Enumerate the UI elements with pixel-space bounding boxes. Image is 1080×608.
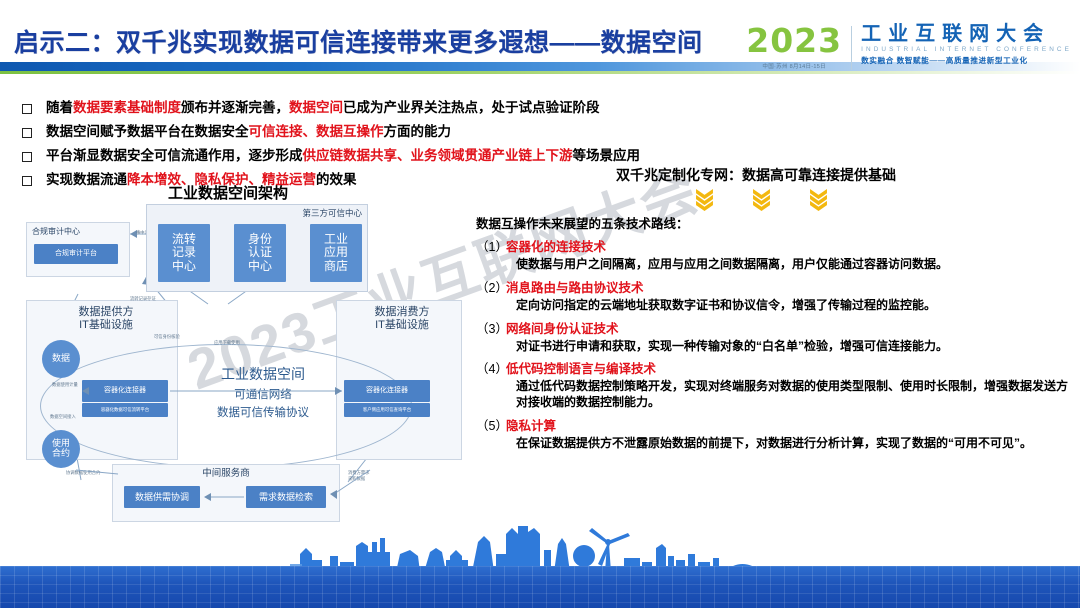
logo-year: 2023 [746, 24, 842, 57]
tech-route-number: （3） [476, 318, 506, 337]
tech-route-item: （1）容器化的连接技术使数据与用户之间隔离，应用与应用之间数据隔离，用户仅能通过… [476, 236, 1072, 273]
edge-label-compute: 数据使用计量 [52, 382, 78, 388]
tech-route-description: 使数据与用户之间隔离，应用与应用之间数据隔离，用户仅能通过容器访问数据。 [516, 257, 1072, 273]
tech-route-description: 对证书进行申请和获取，实现一种传输对象的“白名单”检验，增强可信连接能力。 [516, 339, 1072, 355]
right-column: 双千兆定制化专网：数据高可靠连接提供基础 [476, 165, 1072, 452]
tech-route-number: （5） [476, 415, 506, 434]
bullet-item: 随着数据要素基础制度颁布并逐渐完善，数据空间已成为产业界关注热点，处于试点验证阶… [22, 100, 662, 117]
tech-route-list: （1）容器化的连接技术使数据与用户之间隔离，应用与应用之间数据隔离，用户仅能通过… [476, 236, 1072, 452]
right-heading: 双千兆定制化专网：数据高可靠连接提供基础 [616, 165, 1072, 185]
tech-route-header: （4）低代码控制语言与编译技术 [476, 358, 1072, 378]
edge-label-app-use: 应用下载使用 [214, 340, 240, 346]
tech-route-header: （2）消息路由与路由协议技术 [476, 277, 1072, 297]
page-title: 启示二：双千兆实现数据可信连接带来更多遐想——数据空间 [14, 23, 703, 59]
plain-text: 随着 [46, 100, 73, 115]
consumer-label: 数据消费方IT基础设施 [348, 306, 456, 332]
bullet-text: 数据空间赋予数据平台在数据安全可信连接、数据互操作方面的能力 [46, 124, 451, 141]
double-chevron-down-icon [753, 189, 770, 211]
edge-label-check: 数据空间接入 [50, 414, 76, 420]
plain-text: 颁布并逐渐完善， [181, 100, 289, 115]
tech-route-item: （3）网络间身份认证技术对证书进行申请和获取，实现一种传输对象的“白名单”检验，… [476, 318, 1072, 355]
bullet-item: 平台渐显数据安全可信流通作用，逐步形成供应链数据共享、业务领域贯通产业链上下游等… [22, 148, 662, 165]
tech-route-header: （5）隐私计算 [476, 415, 1072, 435]
tech-route-header: （3）网络间身份认证技术 [476, 318, 1072, 338]
tech-route-title: 容器化的连接技术 [506, 236, 606, 255]
highlight-text: 数据要素基础制度 [73, 100, 181, 115]
logo-year-block: 2023 中国·苏州 8月14日-15日 [746, 24, 851, 70]
tech-route-title: 隐私计算 [506, 415, 556, 434]
logo-name-cn: 工业互联网大会 [861, 24, 1072, 45]
highlight-text: 可信连接、数据互操作 [249, 124, 384, 139]
double-chevron-down-icon [810, 189, 827, 211]
logo-tagline: 数实融合 数智赋能——高质量推进新型工业化 [861, 55, 1072, 66]
tech-route-item: （5）隐私计算在保证数据提供方不泄露原始数据的前提下，对数据进行分析计算，实现了… [476, 415, 1072, 452]
tech-route-header: （1）容器化的连接技术 [476, 236, 1072, 256]
logo-name-en: INDUSTRIAL INTERNET CONFERENCE [861, 46, 1072, 53]
tech-route-title: 网络间身份认证技术 [506, 318, 619, 337]
bullet-text: 平台渐显数据安全可信流通作用，逐步形成供应链数据共享、业务领域贯通产业链上下游等… [46, 148, 640, 165]
footer-skyline [0, 530, 1080, 608]
space-title: 工业数据空间 [188, 364, 338, 384]
tech-route-item: （4）低代码控制语言与编译技术通过低代码数据控制策略开发，实现对终端服务对数据的… [476, 358, 1072, 411]
conference-logo: 2023 中国·苏州 8月14日-15日 工业互联网大会 INDUSTRIAL … [746, 24, 1072, 72]
bullet-text: 随着数据要素基础制度颁布并逐渐完善，数据空间已成为产业界关注热点，处于试点验证阶… [46, 100, 600, 117]
broker-right-box: 需求数据检索 [246, 486, 326, 508]
connector-right-box: 容器化连接器 [344, 380, 430, 402]
center-box-0: 流转记录中心 [158, 224, 210, 282]
broker-label: 中间服务商 [178, 468, 274, 479]
connector-left-sub: 容器化数据可信流转平台 [82, 403, 168, 417]
logo-text-block: 工业互联网大会 INDUSTRIAL INTERNET CONFERENCE 数… [861, 24, 1072, 66]
tech-route-item: （2）消息路由与路由协议技术定向访问指定的云端地址获取数字证书和协议信令，增强了… [476, 277, 1072, 314]
third-party-label: 第三方可信中心 [266, 208, 362, 218]
contract-circle: 使用合约 [42, 430, 80, 468]
architecture-diagram: 工业数据空间架构 合规审计中心 [18, 182, 470, 534]
double-chevron-down-icon [696, 189, 713, 211]
logo-date: 中国·苏州 8月14日-15日 [762, 62, 826, 70]
edge-label-consumer-demand: 消费方需求采购数据 [348, 470, 369, 482]
edge-label-contract-sync: 协调数据使用合约 [66, 470, 100, 476]
provider-label: 数据提供方IT基础设施 [46, 306, 166, 332]
audit-platform-box: 合规审计平台 [34, 244, 118, 264]
tech-route-number: （1） [476, 236, 506, 255]
plain-text: 平台渐显数据安全可信流通作用，逐步形成 [46, 148, 303, 163]
broker-left-box: 数据供需协调 [124, 486, 200, 508]
logo-divider [851, 26, 852, 70]
plain-text: 数据空间赋予数据平台在数据安全 [46, 124, 249, 139]
bullet-square-icon [22, 152, 32, 162]
data-circle: 数据 [42, 340, 80, 378]
center-box-1: 身份认证中心 [234, 224, 286, 282]
edge-label-flow-record: 流转记录存证 [130, 296, 156, 302]
space-line-1: 可通信网络 [188, 386, 338, 402]
plain-text: 已成为产业界关注热点，处于试点验证阶段 [343, 100, 600, 115]
right-lead: 数据互操作未来展望的五条技术路线： [476, 213, 1072, 232]
connector-right-sub: 客户侧应用可信查询平台 [344, 403, 430, 417]
tech-route-description: 在保证数据提供方不泄露原始数据的前提下，对数据进行分析计算，实现了数据的“可用不… [516, 436, 1072, 452]
audit-center-label: 合规审计中心 [32, 227, 124, 237]
tech-route-number: （4） [476, 358, 506, 377]
bullet-item: 数据空间赋予数据平台在数据安全可信连接、数据互操作方面的能力 [22, 124, 662, 141]
bullet-square-icon [22, 104, 32, 114]
highlight-text: 数据空间 [289, 100, 343, 115]
tech-route-title: 低代码控制语言与编译技术 [506, 358, 656, 377]
tech-route-description: 定向访问指定的云端地址获取数字证书和协议信令，增强了传输过程的监控能。 [516, 298, 1072, 314]
tech-route-title: 消息路由与路由协议技术 [506, 277, 644, 296]
connector-left-box: 容器化连接器 [82, 380, 168, 402]
bullet-square-icon [22, 128, 32, 138]
space-line-2: 数据可信传输协议 [178, 404, 348, 420]
chevron-icon-group [696, 189, 1072, 211]
plain-text: 等场景应用 [573, 148, 641, 163]
ground-grid [0, 566, 1080, 608]
edge-label-identity: 可信身份核验 [154, 334, 180, 340]
plain-text: 方面的能力 [384, 124, 452, 139]
highlight-text: 供应链数据共享、业务领域贯通产业链上下游 [303, 148, 573, 163]
slide-root: 启示二：双千兆实现数据可信连接带来更多遐想——数据空间 2023 中国·苏州 8… [0, 0, 1080, 608]
tech-route-description: 通过低代码数据控制策略开发，实现对终端服务对数据的使用类型限制、使用时长限制，增… [516, 379, 1072, 411]
diagram-title: 工业数据空间架构 [168, 182, 288, 203]
center-box-2: 工业应用商店 [310, 224, 362, 282]
tech-route-number: （2） [476, 277, 506, 296]
